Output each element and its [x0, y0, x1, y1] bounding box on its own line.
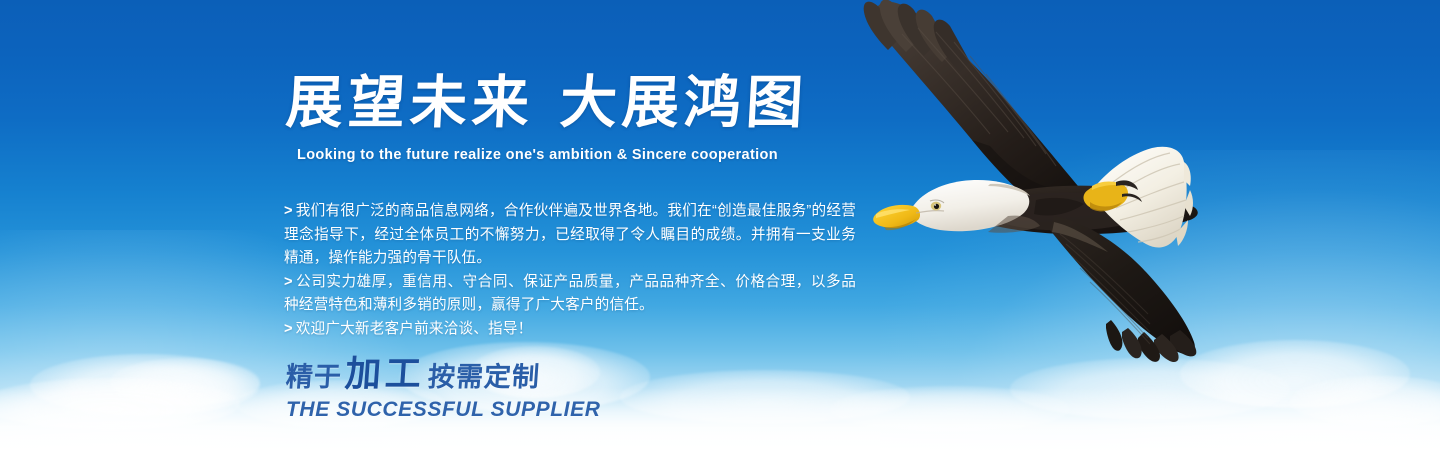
banner-content: 展望未来大展鸿图 Looking to the future realize o…: [284, 0, 864, 450]
bullet-marker-icon: >: [284, 274, 293, 290]
headline-part-2: 大展鸿图: [558, 69, 810, 136]
slogan-lead: 精于: [285, 362, 343, 393]
paragraph-text: 欢迎广大新老客户前来洽谈、指导！: [296, 321, 533, 337]
company-slogan: 精于加工按需定制 THE SUCCESSFUL SUPPLIER: [286, 357, 600, 422]
bullet-marker-icon: >: [284, 321, 293, 337]
headline-part-1: 展望未来: [284, 69, 536, 136]
promo-banner: 展望未来大展鸿图 Looking to the future realize o…: [0, 0, 1440, 450]
slogan-tail: 按需定制: [427, 362, 541, 393]
slogan-emphasis: 加工: [341, 353, 430, 395]
description-paragraph-1: >我们有很广泛的商品信息网络，合作伙伴遍及世界各地。我们在“创造最佳服务”的经营…: [284, 200, 856, 271]
description-list: >我们有很广泛的商品信息网络，合作伙伴遍及世界各地。我们在“创造最佳服务”的经营…: [284, 200, 856, 341]
headline-subtitle: Looking to the future realize one's ambi…: [297, 147, 778, 163]
slogan-chinese: 精于加工按需定制: [285, 357, 602, 395]
page-title: 展望未来大展鸿图: [285, 74, 810, 131]
slogan-english: THE SUCCESSFUL SUPPLIER: [286, 398, 600, 422]
bullet-marker-icon: >: [284, 203, 293, 219]
description-paragraph-2: >公司实力雄厚，重信用、守合同、保证产品质量，产品品种齐全、价格合理，以多品种经…: [284, 271, 856, 318]
description-paragraph-3: >欢迎广大新老客户前来洽谈、指导！: [284, 318, 856, 342]
paragraph-text: 公司实力雄厚，重信用、守合同、保证产品质量，产品品种齐全、价格合理，以多品种经营…: [284, 274, 856, 314]
paragraph-text: 我们有很广泛的商品信息网络，合作伙伴遍及世界各地。我们在“创造最佳服务”的经营理…: [284, 203, 856, 266]
